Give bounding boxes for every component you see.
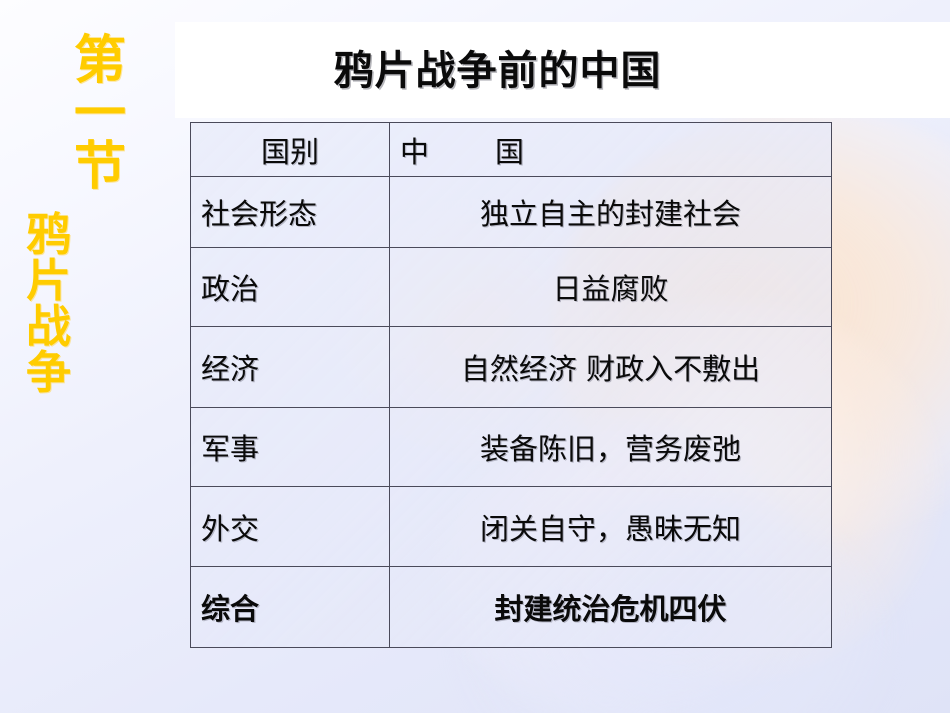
row-value-politics: 日益腐败 [390, 248, 832, 327]
row-value-social-form: 独立自主的封建社会 [390, 177, 832, 248]
header-label-country: 国别 [191, 123, 390, 177]
vertical-heading-section-topic: 鸦 片 战 争 [26, 212, 71, 396]
table-row: 军事 装备陈旧，营务废弛 [191, 408, 832, 487]
table-row: 经济 自然经济 财政入不敷出 [191, 327, 832, 408]
vertical-heading-section-number: 第 一 节 [74, 34, 126, 193]
header-value-china-char2: 国 [495, 135, 524, 169]
table-row: 外交 闭关自守，愚昧无知 [191, 487, 832, 567]
comparison-table: 国别 中国 社会形态 独立自主的封建社会 政治 日益腐败 经济 自然经济 财政入… [190, 122, 832, 648]
header-value-china: 中国 [390, 123, 832, 177]
table-row: 社会形态 独立自主的封建社会 [191, 177, 832, 248]
row-label-politics: 政治 [191, 248, 390, 327]
title-banner: 鸦片战争前的中国 [175, 22, 950, 118]
row-label-diplomacy: 外交 [191, 487, 390, 567]
table-row: 综合 封建统治危机四伏 [191, 567, 832, 648]
table-row: 政治 日益腐败 [191, 248, 832, 327]
row-value-economy: 自然经济 财政入不敷出 [390, 327, 832, 408]
header-value-china-char1: 中 [400, 135, 429, 169]
row-value-summary: 封建统治危机四伏 [390, 567, 832, 648]
row-label-economy: 经济 [191, 327, 390, 408]
row-label-social-form: 社会形态 [191, 177, 390, 248]
slide-canvas: 第 一 节 鸦 片 战 争 鸦片战争前的中国 国别 中国 社会形态 独立自主的封… [0, 0, 950, 713]
row-value-military: 装备陈旧，营务废弛 [390, 408, 832, 487]
table-row-header: 国别 中国 [191, 123, 832, 177]
row-label-military: 军事 [191, 408, 390, 487]
row-label-summary: 综合 [191, 567, 390, 648]
row-value-diplomacy: 闭关自守，愚昧无知 [390, 487, 832, 567]
page-title: 鸦片战争前的中国 [175, 38, 820, 96]
